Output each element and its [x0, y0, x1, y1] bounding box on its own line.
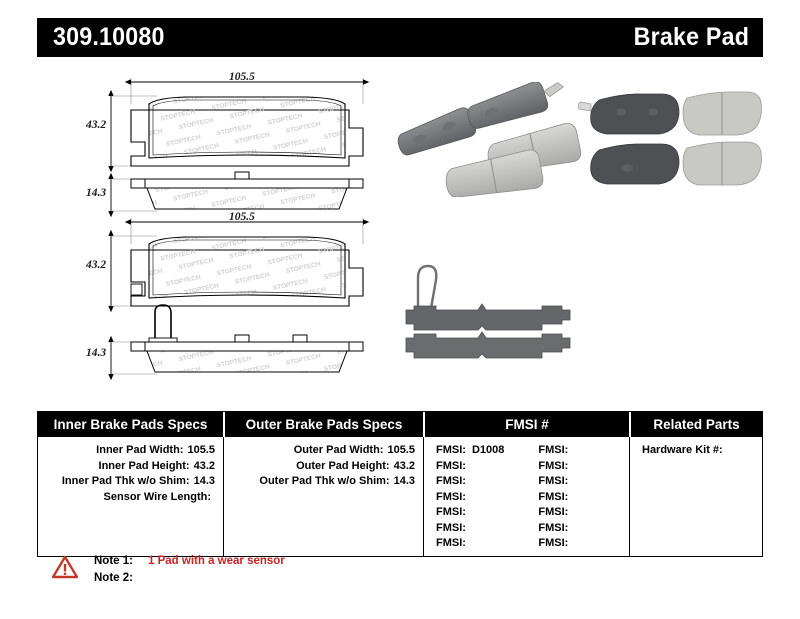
note-1-value: 1 Pad with a wear sensor — [148, 555, 285, 567]
spec-table-body-row: Inner Pad Width:105.5 Inner Pad Height:4… — [38, 437, 762, 556]
drawing-area: STOPTECH STOPTECH 105.5 43.2 — [37, 62, 763, 392]
inner-spec-row: Inner Pad Thk w/o Shim:14.3 — [46, 474, 215, 490]
hardware-kit-label: Hardware Kit #: — [642, 444, 723, 456]
fmsi-label: FMSI: — [538, 491, 568, 503]
hardware-kit-row: Hardware Kit #: — [638, 443, 754, 459]
fmsi-row: FMSI: — [538, 536, 574, 552]
fmsi-row: FMSI: — [538, 521, 574, 537]
dim-upper-thickness: 14.3 — [86, 187, 106, 199]
outer-spec-row: Outer Pad Width:105.5 — [232, 443, 415, 459]
dim-upper-height: 43.2 — [86, 119, 106, 131]
inner-specs-cell: Inner Pad Width:105.5 Inner Pad Height:4… — [38, 437, 223, 556]
header-outer-specs: Outer Brake Pads Specs — [223, 412, 423, 437]
fmsi-label: FMSI: — [538, 522, 568, 534]
page-title: Brake Pad — [634, 23, 749, 52]
fmsi-row: FMSI: — [538, 490, 574, 506]
inner-pad-height-value: 43.2 — [194, 460, 215, 472]
related-parts-cell: Hardware Kit #: — [629, 437, 762, 556]
inner-spec-row: Inner Pad Height:43.2 — [46, 459, 215, 475]
notes-section: Note 1:1 Pad with a wear sensor Note 2: — [52, 553, 285, 587]
fmsi-row: FMSI: — [436, 505, 504, 521]
inner-spec-row: Inner Pad Width:105.5 — [46, 443, 215, 459]
fmsi-row: FMSI: — [538, 459, 574, 475]
fmsi-column-left: FMSI:D1008 FMSI: FMSI: FMSI: FMSI: — [436, 443, 504, 552]
outer-pad-height-value: 43.2 — [394, 460, 415, 472]
fmsi-column-right: FMSI: FMSI: FMSI: FMSI: FMSI: — [538, 443, 574, 552]
fmsi-label: FMSI: — [436, 475, 466, 487]
fmsi-label: FMSI: — [436, 491, 466, 503]
outer-pad-width-label: Outer Pad Width: — [294, 444, 384, 456]
fmsi-row: FMSI: — [436, 474, 504, 490]
fmsi-row: FMSI: — [538, 474, 574, 490]
fmsi-row: FMSI:D1008 — [436, 443, 504, 459]
outer-spec-row: Outer Pad Thk w/o Shim:14.3 — [232, 474, 415, 490]
inner-pad-thk-label: Inner Pad Thk w/o Shim: — [62, 475, 190, 487]
dim-upper-width: 105.5 — [229, 71, 255, 83]
photo-pads-angled — [392, 82, 582, 197]
fmsi-row: FMSI: — [436, 521, 504, 537]
cad-lower-edge-view — [97, 302, 397, 382]
outer-specs-cell: Outer Pad Width:105.5 Outer Pad Height:4… — [223, 437, 423, 556]
inner-spec-row: Sensor Wire Length: — [46, 490, 215, 506]
header-fmsi: FMSI # — [423, 412, 629, 437]
inner-pad-width-value: 105.5 — [187, 444, 215, 456]
note-2-label: Note 2: — [94, 570, 142, 587]
fmsi-label: FMSI: — [436, 444, 466, 456]
fmsi-row: FMSI: — [436, 490, 504, 506]
note-1-label: Note 1: — [94, 553, 142, 570]
fmsi-row: FMSI: — [436, 459, 504, 475]
fmsi-cell: FMSI:D1008 FMSI: FMSI: FMSI: FMSI: — [423, 437, 629, 556]
note-1-row: Note 1:1 Pad with a wear sensor — [94, 553, 285, 570]
fmsi-label: FMSI: — [538, 475, 568, 487]
fmsi-label: FMSI: — [436, 537, 466, 549]
fmsi-row: FMSI: — [436, 536, 504, 552]
photo-pads-grid — [577, 90, 767, 198]
fmsi-label: FMSI: — [436, 460, 466, 472]
sensor-wire-length-label: Sensor Wire Length: — [104, 491, 211, 503]
fmsi-label: FMSI: — [436, 506, 466, 518]
outer-spec-row: Outer Pad Height:43.2 — [232, 459, 415, 475]
spec-table: Inner Brake Pads Specs Outer Brake Pads … — [37, 411, 763, 557]
header-inner-specs: Inner Brake Pads Specs — [38, 412, 223, 437]
inner-pad-height-label: Inner Pad Height: — [99, 460, 190, 472]
note-2-row: Note 2: — [94, 570, 285, 587]
header-related-parts: Related Parts — [629, 412, 762, 437]
outer-pad-thk-value: 14.3 — [394, 475, 415, 487]
fmsi-label: FMSI: — [538, 444, 568, 456]
outer-pad-width-value: 105.5 — [387, 444, 415, 456]
dim-lower-width: 105.5 — [229, 211, 255, 223]
dim-lower-thickness: 14.3 — [86, 347, 106, 359]
inner-pad-width-label: Inner Pad Width: — [96, 444, 183, 456]
fmsi-label: FMSI: — [436, 522, 466, 534]
header-bar: 309.10080 Brake Pad — [37, 18, 763, 57]
fmsi-value: D1008 — [472, 444, 504, 456]
fmsi-label: FMSI: — [538, 537, 568, 549]
photo-pads-edge — [392, 252, 582, 372]
outer-pad-height-label: Outer Pad Height: — [296, 460, 390, 472]
fmsi-row: FMSI: — [538, 505, 574, 521]
outer-pad-thk-label: Outer Pad Thk w/o Shim: — [259, 475, 389, 487]
fmsi-row: FMSI: — [538, 443, 574, 459]
warning-triangle-icon — [52, 555, 78, 579]
spec-table-header-row: Inner Brake Pads Specs Outer Brake Pads … — [38, 412, 762, 437]
notes-text-block: Note 1:1 Pad with a wear sensor Note 2: — [94, 553, 285, 587]
inner-pad-thk-value: 14.3 — [194, 475, 215, 487]
fmsi-label: FMSI: — [538, 506, 568, 518]
fmsi-label: FMSI: — [538, 460, 568, 472]
part-number: 309.10080 — [53, 23, 165, 52]
dim-lower-height: 43.2 — [86, 259, 106, 271]
